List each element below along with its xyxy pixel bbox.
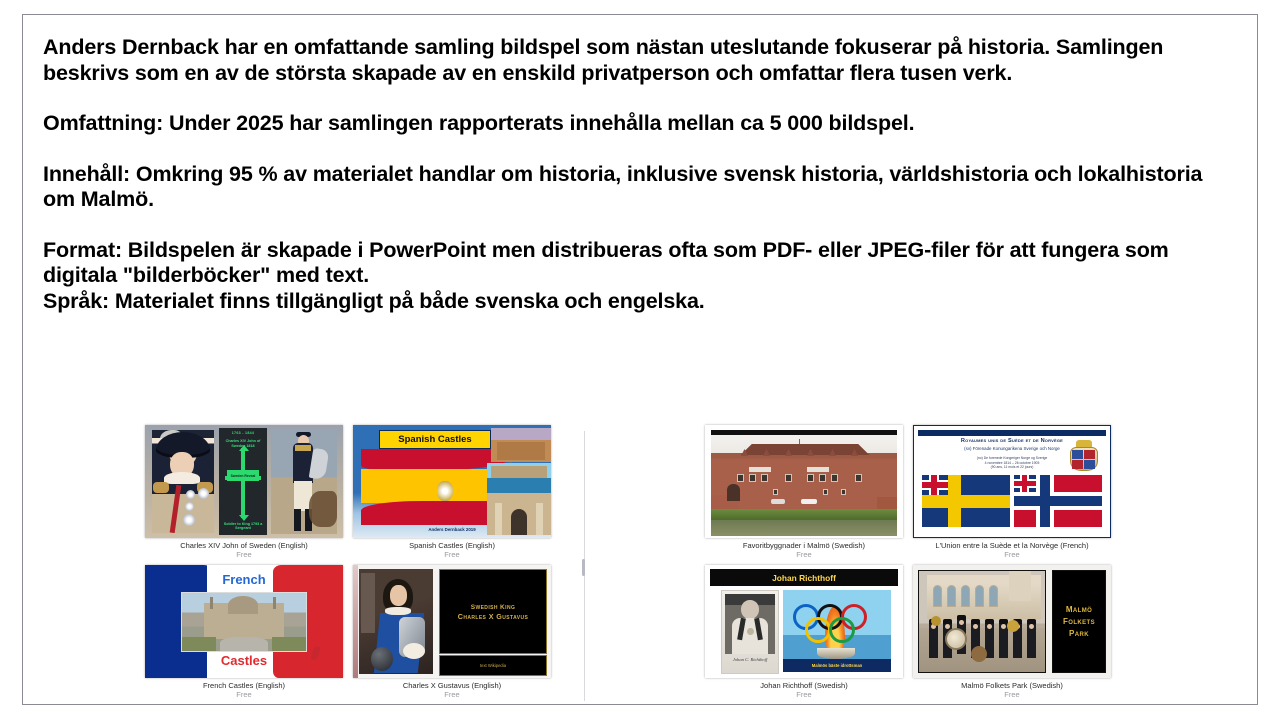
item-title: Spanish Castles (English) (353, 541, 551, 550)
arch (989, 585, 998, 607)
document-page: Anders Dernback har en omfattande samlin… (22, 14, 1258, 705)
window (831, 474, 838, 482)
window (841, 489, 846, 495)
slide-center-panel: 1763 - 1844 Charles XIV John of Sweden 1… (219, 428, 267, 535)
portrait-charles-x (359, 569, 433, 674)
window (785, 474, 792, 482)
item-price: Free (705, 550, 903, 559)
slide-years: 1763 - 1844 (219, 431, 267, 435)
medal-icon (747, 628, 754, 635)
face (959, 620, 964, 625)
list-item[interactable]: Royaumes unis de Suède et de Norvège (sv… (913, 425, 1111, 563)
castle-wall (491, 466, 547, 478)
photo-coastal-castle (487, 463, 551, 493)
face (390, 585, 407, 606)
sleeve (403, 643, 425, 659)
window (807, 474, 814, 482)
signature: Johan C. Richthoff (726, 657, 774, 669)
paragraph-format-sprak: Format: Bildspelen är skapade i PowerPoi… (43, 238, 1223, 315)
flag-field (922, 475, 1010, 527)
thumbnail-caption: Charles XIV John of Sweden (English) Fre… (145, 541, 343, 559)
canton-red-vertical (931, 475, 937, 495)
thumbnail-french-castles[interactable]: French Castles (145, 565, 343, 678)
thumbnail-johan-richthoff[interactable]: Johan Richthoff Johan C. Richthoff (705, 565, 903, 678)
bandsman (1027, 624, 1036, 658)
lawn-right (272, 637, 306, 651)
window-band (749, 467, 771, 472)
item-price: Free (353, 690, 551, 699)
horse (309, 491, 337, 527)
bridge-path (220, 637, 268, 651)
thumbnail-gallery: 1763 - 1844 Charles XIV John of Sweden 1… (23, 419, 1257, 705)
olympic-ring-green (829, 617, 855, 643)
slide-badge: Sweden Reveal (227, 470, 259, 481)
window (855, 474, 862, 482)
drum-icon (971, 646, 987, 662)
thumbnail-malmo-folkets-park[interactable]: Malmö Folkets Park (913, 565, 1111, 678)
union-canton (922, 475, 948, 495)
medal-icon (186, 490, 195, 499)
slide-title-line1: Swedish King (458, 603, 528, 612)
sash (170, 485, 182, 533)
photo-chateau (181, 592, 307, 652)
castle-gate (727, 484, 740, 501)
portrait-left (152, 430, 214, 533)
lawn-left (182, 637, 216, 651)
list-item[interactable]: Johan Richthoff Johan C. Richthoff (705, 565, 903, 703)
shield-quarter (1072, 450, 1083, 459)
slide-title-top: French (145, 572, 343, 587)
window (749, 474, 756, 482)
slide-footer: Soldier to King 1793 a Sergeant (219, 522, 267, 531)
shield-quarter (1084, 450, 1095, 459)
slide-source-text: text Wikipedia (480, 663, 506, 668)
flag-blue-horizontal (1014, 496, 1102, 506)
window-band (807, 467, 829, 472)
star-medal-icon (198, 488, 209, 499)
shield-quarter (1072, 460, 1083, 469)
scrollbar-handle[interactable] (582, 559, 585, 576)
paragraph-innehall: Innehåll: Omkring 95 % av materialet han… (43, 162, 1223, 213)
item-price: Free (913, 550, 1111, 559)
spacer (43, 213, 1223, 238)
epaulette-left (153, 482, 169, 493)
pavilion-tower (1009, 571, 1031, 601)
thumbnail-charles-xiv-john[interactable]: 1763 - 1844 Charles XIV John of Sweden 1… (145, 425, 343, 538)
arrow-down-icon (239, 515, 249, 521)
edge-stripe (353, 565, 358, 678)
thumbnail-spanish-castles[interactable]: Spanish Castles Anders Dernback 2019 (353, 425, 551, 538)
slide-title-board: Malmö Folkets Park (1052, 570, 1106, 673)
gallery-group-left: 1763 - 1844 Charles XIV John of Sweden 1… (145, 419, 565, 705)
photo-wrestler: Johan C. Richthoff (721, 590, 779, 674)
brass-horn-icon (931, 616, 941, 626)
slide-source-bar: text Wikipedia (439, 655, 547, 676)
bass-drum-icon (945, 628, 967, 650)
arch (933, 585, 942, 607)
union-canton (1014, 475, 1036, 492)
item-title: Charles XIV John of Sweden (English) (145, 541, 343, 550)
slide-title-board: Swedish King Charles X Gustavus (439, 569, 547, 654)
slide-banner-text: Spanish Castles (398, 434, 471, 445)
thumbnail-caption: Spanish Castles (English) Free (353, 541, 551, 559)
item-title: Charles X Gustavus (English) (353, 681, 551, 690)
bandsman (999, 624, 1008, 658)
item-price: Free (353, 550, 551, 559)
gallery-group-right: Favoritbyggnader i Malmö (Swedish) Free … (705, 419, 1125, 705)
olympic-cauldron (817, 648, 855, 659)
item-title: Malmö Folkets Park (Swedish) (913, 681, 1111, 690)
arrow-up-icon (239, 445, 249, 451)
slide-credit: Anders Dernback 2019 (353, 527, 551, 532)
parked-car (801, 499, 817, 504)
flag-field (1014, 475, 1102, 527)
portrait-right (271, 429, 337, 534)
item-title: L'Union entre la Suède et la Norvège (Fr… (913, 541, 1111, 550)
window (737, 474, 744, 482)
paragraph-omfattning: Omfattning: Under 2025 har samlingen rap… (43, 111, 1223, 137)
paragraph-intro: Anders Dernback har en omfattande samlin… (43, 35, 1223, 86)
thumbnail-union-suede-norvege[interactable]: Royaumes unis de Suède et de Norvège (sv… (913, 425, 1111, 538)
face (1029, 624, 1034, 629)
slide-top-band (918, 430, 1106, 436)
list-item[interactable]: Favoritbyggnader i Malmö (Swedish) Free (705, 425, 903, 563)
slide-header-text: Johan Richthoff (772, 573, 836, 583)
chateau-spire (210, 597, 213, 609)
crown (1076, 440, 1092, 447)
slide-banner: Spanish Castles (379, 430, 491, 449)
arch (947, 585, 956, 607)
thumbnail-caption: L'Union entre la Suède et la Norvège (Fr… (913, 541, 1111, 559)
spacer (43, 137, 1223, 162)
slide-title-bottom: Castles (145, 653, 343, 668)
thumbnail-caption: Favoritbyggnader i Malmö (Swedish) Free (705, 541, 903, 559)
item-price: Free (913, 690, 1111, 699)
slide-header-bar: Johan Richthoff (710, 569, 898, 586)
photo-alhambra (491, 428, 551, 462)
window (823, 489, 828, 495)
item-title: French Castles (English) (145, 681, 343, 690)
photo-brass-band (918, 570, 1046, 673)
list-item[interactable]: Swedish King Charles X Gustavus text Wik… (353, 565, 551, 703)
item-title: Favoritbyggnader i Malmö (Swedish) (705, 541, 903, 550)
union-coat-of-arms-icon (1067, 440, 1101, 474)
list-item[interactable]: French Castles French Castles (English (145, 565, 343, 703)
item-price: Free (705, 690, 903, 699)
window (819, 474, 826, 482)
thumbnail-charles-x-gustavus[interactable]: Swedish King Charles X Gustavus text Wik… (353, 565, 551, 678)
collar (164, 472, 200, 484)
item-title: Johan Richthoff (Swedish) (705, 681, 903, 690)
arrow-shaft-vertical (241, 448, 245, 518)
castle-wall (497, 442, 545, 460)
spain-coat-of-arms-icon (437, 481, 453, 501)
bandsman (929, 624, 938, 658)
slide-title-text: Malmö Folkets Park (1053, 604, 1105, 640)
chateau-dome (228, 596, 258, 614)
thumbnail-caption: Charles X Gustavus (English) Free (353, 681, 551, 699)
olympic-ring-yellow (805, 617, 831, 643)
spacer (43, 86, 1223, 111)
sweden-union-flag-icon (922, 475, 1010, 527)
description-text-block: Anders Dernback har en omfattande samlin… (43, 35, 1223, 314)
thumbnail-caption: French Castles (English) Free (145, 681, 343, 699)
face (987, 624, 992, 629)
photo-frame (725, 594, 775, 654)
slide-caption-bar: Malmös bäste idrottsman (783, 659, 891, 672)
grass-bank (711, 509, 897, 520)
thumbnail-caption: Johan Richthoff (Swedish) Free (705, 681, 903, 699)
thumbnail-caption: Malmö Folkets Park (Swedish) Free (913, 681, 1111, 699)
medal-icon (183, 514, 195, 526)
cape (309, 448, 329, 480)
pillar (361, 573, 375, 633)
helmet (371, 647, 393, 671)
list-item[interactable]: 1763 - 1844 Charles XIV John of Sweden 1… (145, 425, 343, 563)
parked-car (771, 499, 785, 504)
slide-title-line2: Charles X Gustavus (458, 612, 528, 621)
arch (975, 585, 984, 607)
head (741, 600, 759, 619)
item-price: Free (145, 690, 343, 699)
arch (961, 585, 970, 607)
brass-horn-icon (1007, 620, 1019, 632)
chateau-spire (273, 597, 276, 609)
shield-quarter (1084, 460, 1095, 469)
thumbnail-favoritbyggnader-malmo[interactable] (705, 425, 903, 538)
list-item[interactable]: Malmö Folkets Park Malmö Folkets Park (S… (913, 565, 1111, 703)
item-price: Free (145, 550, 343, 559)
slide-title-lines: Swedish King Charles X Gustavus (458, 603, 528, 621)
face (945, 624, 950, 629)
boot-left (294, 509, 301, 531)
window (761, 474, 768, 482)
photo-olympic-rings: Malmös bäste idrottsman (783, 590, 891, 672)
list-item[interactable]: Spanish Castles Anders Dernback 2019 Spa… (353, 425, 551, 563)
lace-collar (385, 607, 411, 615)
face (973, 624, 978, 629)
face (1001, 624, 1006, 629)
slide-caption-text: Malmös bäste idrottsman (812, 663, 863, 668)
canton-red-vertical (1022, 475, 1027, 492)
gold-sash (295, 445, 311, 451)
moat-water (711, 520, 897, 536)
norway-union-flag-icon (1014, 475, 1102, 527)
medal-icon (185, 502, 194, 511)
window (773, 489, 778, 495)
flag-cross-horizontal (922, 495, 1010, 508)
